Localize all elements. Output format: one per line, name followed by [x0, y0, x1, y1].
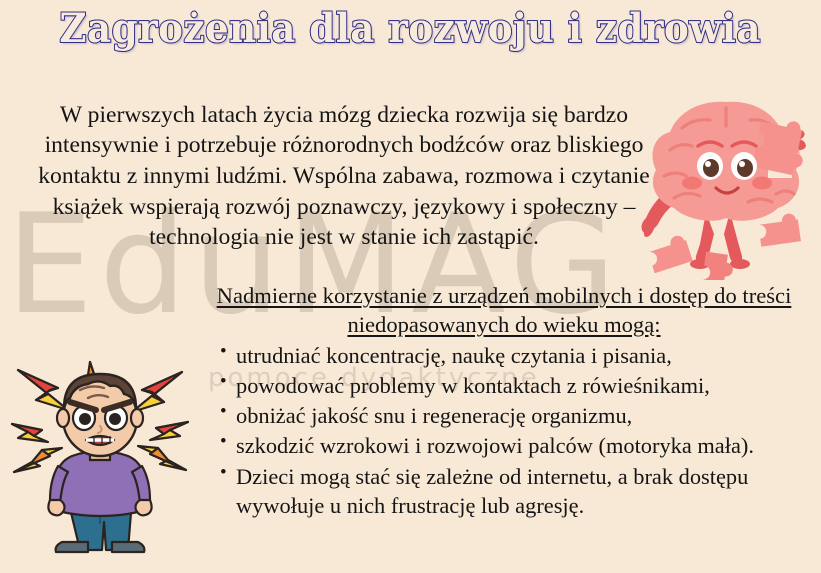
risks-list: utrudniać koncentrację, naukę czytania i…: [198, 341, 821, 521]
intro-paragraph: W pierwszych latach życia mózg dziecka r…: [8, 100, 680, 253]
list-item: Dzieci mogą stać się zależne od internet…: [220, 462, 821, 520]
angry-boy-icon: [6, 352, 194, 568]
list-item: utrudniać koncentrację, naukę czytania i…: [220, 341, 821, 370]
page-title: Zagrożenia dla rozwoju i zdrowia: [60, 6, 762, 52]
list-item: szkodzić wzrokowi i rozwojowi palców (mo…: [220, 431, 821, 460]
title-bar: Zagrożenia dla rozwoju i zdrowia: [0, 6, 821, 52]
slide-canvas: EduMAG pomoce dydaktyczne Zagrożenia dla…: [0, 0, 821, 573]
list-item: powodować problemy w kontaktach z rówieś…: [220, 371, 821, 400]
risks-heading: Nadmierne korzystanie z urządzeń mobilny…: [196, 282, 812, 340]
list-item: obniżać jakość snu i regenerację organiz…: [220, 401, 821, 430]
